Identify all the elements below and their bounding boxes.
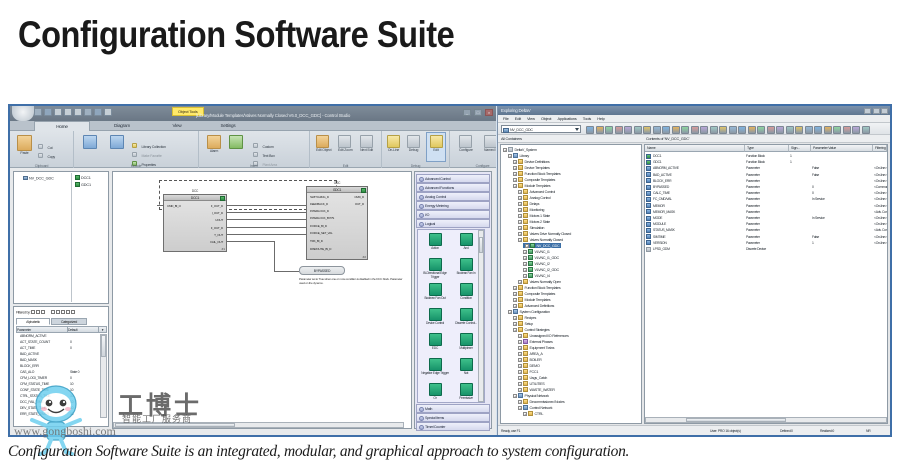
paste-icon[interactable] xyxy=(17,135,32,151)
menu-applications[interactable]: Applications xyxy=(557,116,576,121)
menu-file[interactable]: File xyxy=(503,116,509,121)
param-icon xyxy=(646,216,651,221)
palette-item-label: Negative Edge Trigger xyxy=(420,372,450,376)
palette-category[interactable]: Energy Metering xyxy=(416,201,490,210)
all-containers-label: All Containers xyxy=(501,135,522,143)
and-block-icon xyxy=(460,233,473,246)
nav-block-gdc1[interactable]: GDC1 xyxy=(75,182,91,187)
tree-item-label: Module Templates xyxy=(525,298,551,302)
debug-icon[interactable] xyxy=(407,135,420,148)
filter-checkbox[interactable] xyxy=(36,310,40,314)
copy-icon[interactable] xyxy=(38,153,43,158)
expand-toggle-icon[interactable]: + xyxy=(523,262,527,266)
tree-item[interactable]: +WASTE_WATER xyxy=(518,387,555,392)
explorer-list[interactable]: Name Type Sign... Parameter Value Filter… xyxy=(644,144,888,424)
filter-checkbox[interactable] xyxy=(51,310,55,314)
parameter-grid-pane: Filtered by: Alphabetic Categorized Para… xyxy=(13,306,109,427)
pin-interlock-d: INTERLOCK_D xyxy=(310,209,329,213)
toolbar-icon-20[interactable] xyxy=(776,126,784,134)
tree-item[interactable]: +Unassigned I/O References xyxy=(518,333,569,338)
expand-toggle-icon[interactable]: + xyxy=(523,412,527,416)
tab-view[interactable]: View xyxy=(154,121,200,131)
scrollbar-thumb[interactable] xyxy=(479,237,483,253)
tree-item[interactable]: +Control Network xyxy=(518,405,552,410)
palette-item[interactable]: Device Control xyxy=(420,308,450,326)
expand-toggle-icon[interactable]: + xyxy=(513,316,517,320)
menu-help[interactable]: Help xyxy=(597,116,604,121)
palette-category[interactable]: Timer/Counter xyxy=(416,422,490,431)
tree-item[interactable]: +Motors 2 State xyxy=(518,219,550,224)
function-block-gdc1-header: GDC1 xyxy=(307,187,367,193)
palette-item[interactable]: Or xyxy=(420,383,450,401)
tree-item[interactable]: +Usgs_Catch xyxy=(518,375,547,380)
expand-toggle-icon[interactable]: + xyxy=(518,226,522,230)
block-status-icon xyxy=(220,196,225,201)
tree-item-label: Simulation xyxy=(530,226,545,230)
tree-item[interactable]: +Module Templates xyxy=(513,183,550,188)
configure-icon[interactable] xyxy=(459,135,472,148)
expand-toggle-icon[interactable]: + xyxy=(518,358,522,362)
tree-item[interactable]: +VLVNC_I1_GDC xyxy=(523,255,559,260)
expand-toggle-icon[interactable]: + xyxy=(518,364,522,368)
assign-icon[interactable] xyxy=(110,135,124,149)
tab-home[interactable]: Home xyxy=(34,121,90,131)
parameter-default[interactable]: 10 xyxy=(70,394,73,398)
parameter-name[interactable]: CTRL_STATUS_TIME xyxy=(20,394,50,398)
minimize-button[interactable]: _ xyxy=(463,109,471,116)
tree-item-label: Recipes xyxy=(525,316,537,320)
tree-item[interactable]: +CTRL xyxy=(523,411,543,416)
pin-out-6: FAIL_OUT xyxy=(210,240,223,244)
tree-item[interactable]: +Simulation xyxy=(518,225,544,230)
tree-item[interactable]: +Monitoring xyxy=(518,207,544,212)
palette-category-label: Advanced Functions xyxy=(425,186,454,190)
parameter-name[interactable]: BAD_MASK xyxy=(20,358,37,362)
tree-item[interactable]: +Valves Drive Normally Closed xyxy=(518,231,571,236)
expand-toggle-icon[interactable]: + xyxy=(513,184,517,188)
next-icon[interactable] xyxy=(360,135,373,148)
tree-item[interactable]: +Recipes xyxy=(513,315,536,320)
palette-category[interactable]: Advanced Functions xyxy=(416,183,490,192)
tree-item[interactable]: +Device Definitions xyxy=(513,159,550,164)
toolbar-icon-6[interactable] xyxy=(643,126,651,134)
tree-item-label: Device Templates xyxy=(525,166,550,170)
phase-icon xyxy=(523,339,528,344)
multiplexer-icon xyxy=(460,333,473,346)
wire xyxy=(227,241,274,242)
expand-toggle-icon[interactable]: + xyxy=(518,370,522,374)
toolbar-icon-24[interactable] xyxy=(814,126,822,134)
filter-checkbox[interactable] xyxy=(56,310,60,314)
filter-checkbox[interactable] xyxy=(41,310,45,314)
expand-toggle-icon[interactable]: + xyxy=(523,268,527,272)
tree-item[interactable]: +Composite Templates xyxy=(513,291,555,296)
toolbar-icon-13[interactable] xyxy=(710,126,718,134)
toolbar-icon-26[interactable] xyxy=(833,126,841,134)
expand-toggle-icon[interactable]: + xyxy=(513,394,517,398)
expand-toggle-icon[interactable]: + xyxy=(513,172,517,176)
expand-toggle-icon[interactable]: + xyxy=(518,406,522,410)
grid-header-parameter[interactable]: Parameter xyxy=(16,326,68,333)
tree-item[interactable]: +Module Templates xyxy=(513,297,550,302)
ribbon-group-label-edit: Edit xyxy=(310,164,381,168)
module-icon xyxy=(528,249,533,254)
ribbon-tabstrip: Home Diagram View Settings xyxy=(10,121,496,131)
ribbon-group-label-configure: Configure xyxy=(450,164,496,168)
function-block-dcc1[interactable]: DCC DCC1 CMD_BI_O F_OUT_D I_OUT_D UOUT F… xyxy=(163,194,227,252)
param-icon xyxy=(646,172,651,177)
expand-toggle-icon[interactable]: + xyxy=(513,322,517,326)
palette-item[interactable]: Bi-Directional Edge Trigger xyxy=(420,258,450,279)
tree-item[interactable]: +VLVNC_I2_GDC xyxy=(523,267,559,272)
parameter-name[interactable]: DCC_FAIL_TIME xyxy=(20,400,44,404)
parameter-name[interactable]: DEV_STATE_TIME xyxy=(20,406,46,410)
pin-interlock-byps: INTERLOCK_BYPS xyxy=(310,216,334,220)
expand-toggle-icon[interactable]: + xyxy=(513,286,517,290)
palette-item[interactable]: And xyxy=(451,233,481,251)
palette-item[interactable]: Not xyxy=(451,358,481,376)
module-icon xyxy=(503,128,509,133)
ribbon: Paste Cut Copy Clipboard Library Collect… xyxy=(10,131,496,168)
pin-switching-d: SWITCHING_D xyxy=(310,195,329,199)
palette-item[interactable]: Multiplexer xyxy=(451,333,481,351)
tree-item[interactable]: +External Phases xyxy=(518,339,553,344)
watermark-tagline-cn: 智能工厂服务商 xyxy=(122,412,192,425)
expand-toggle-icon[interactable]: + xyxy=(503,148,507,152)
permissive-block-icon xyxy=(460,383,473,396)
tree-item[interactable]: +VLVNC_I2 xyxy=(523,261,550,266)
grid-header-more[interactable]: ▾ xyxy=(98,326,107,333)
tree-item[interactable]: +Delays xyxy=(518,201,539,206)
menu-view[interactable]: View xyxy=(527,116,535,121)
parameter-default[interactable]: 10 xyxy=(70,388,73,392)
parameter-name[interactable]: ABNORM_ACTIVE xyxy=(20,334,46,338)
toolbar-icon-8[interactable] xyxy=(662,126,670,134)
tree-item[interactable]: +DeltaV_System xyxy=(503,147,537,152)
tree-item[interactable]: +DEMO xyxy=(518,363,540,368)
palette-item-label: Or xyxy=(420,397,450,401)
alarm-icon[interactable] xyxy=(207,135,221,149)
expand-toggle-icon[interactable]: + xyxy=(518,280,522,284)
palette-item[interactable]: Discrete Control... xyxy=(451,308,481,326)
palette-category[interactable]: Math xyxy=(416,404,490,413)
list-hscrollbar[interactable] xyxy=(645,417,887,423)
zoom-icon[interactable] xyxy=(338,135,351,148)
nav-root-item[interactable]: NV_DCC_GDC xyxy=(23,176,54,181)
download-icon[interactable] xyxy=(83,135,97,149)
expand-toggle-icon[interactable]: + xyxy=(508,310,512,314)
tree-item[interactable]: +VLVNC_I1 xyxy=(523,249,550,254)
tab-alphabetic[interactable]: Alphabetic xyxy=(16,318,50,325)
maximize-button[interactable] xyxy=(873,108,880,114)
parameter-name[interactable]: CAS_ALO xyxy=(20,370,34,374)
explorer-toolbar: NV_DCC_GDC xyxy=(498,123,890,135)
toolbar-icon-0[interactable] xyxy=(586,126,594,134)
palette-category-logical[interactable]: Logical xyxy=(416,219,490,228)
expand-toggle-icon[interactable]: + xyxy=(523,256,527,260)
pin-force-set-val: FORCE_SET_VAL xyxy=(310,231,333,235)
tree-item[interactable]: +Decommissioned Nodes xyxy=(518,399,564,404)
wire xyxy=(274,241,275,271)
explorer-menubar: File Edit View Object Applications Tools… xyxy=(498,115,890,123)
toolbar-icon-15[interactable] xyxy=(729,126,737,134)
palette-item-label: Discrete Control... xyxy=(451,322,481,326)
filter-checkbox[interactable] xyxy=(66,310,70,314)
palette-item[interactable]: Boolean Fan In xyxy=(451,258,481,276)
tab-categorized[interactable]: Categorized xyxy=(51,318,87,325)
tree-item[interactable]: +Valves Normally Open xyxy=(518,279,561,284)
toolbar-icon-11[interactable] xyxy=(691,126,699,134)
palette-category-label: Math xyxy=(425,407,432,411)
function-block-dcc1-header: DCC1 xyxy=(164,195,226,201)
expand-toggle-icon[interactable]: + xyxy=(518,376,522,380)
expand-toggle-icon[interactable]: + xyxy=(518,340,522,344)
parameter-name[interactable]: BAD_ACTIVE xyxy=(20,352,39,356)
palette-item[interactable]: Action xyxy=(420,233,450,251)
parameter-default[interactable]: 0 xyxy=(70,340,72,344)
grid-header-default[interactable]: Default xyxy=(67,326,99,333)
parameter-name[interactable]: CFM_STATUS_TIME xyxy=(20,382,49,386)
parameter-default[interactable]: 10 xyxy=(70,382,73,386)
expand-toggle-icon[interactable]: + xyxy=(518,382,522,386)
parameter-default[interactable]: State 0 xyxy=(70,370,79,374)
action-block-icon xyxy=(429,233,442,246)
tree-item[interactable]: +Analog Control xyxy=(518,195,550,200)
tree-item[interactable]: +NV_DCC_GDC xyxy=(523,243,561,248)
tree-item[interactable]: +Function Block Templates xyxy=(513,171,560,176)
menu-object[interactable]: Object xyxy=(541,116,551,121)
online-icon[interactable] xyxy=(387,135,400,148)
toolbar-icon-28[interactable] xyxy=(852,126,860,134)
expand-toggle-icon[interactable]: + xyxy=(513,304,517,308)
expand-toggle-icon[interactable]: + xyxy=(518,202,522,206)
tree-item[interactable]: +Library xyxy=(508,153,529,158)
parameter-default[interactable]: 10 xyxy=(70,400,73,404)
list-header-value[interactable]: Parameter Value xyxy=(811,145,873,152)
parameter-default[interactable]: 10 xyxy=(70,412,73,416)
toolbar-icon-10[interactable] xyxy=(681,126,689,134)
toolbar-icon-22[interactable] xyxy=(795,126,803,134)
expand-toggle-icon[interactable]: + xyxy=(523,274,527,278)
tree-item-label: Monitoring xyxy=(530,208,545,212)
list-header-filtering[interactable]: Filtering xyxy=(873,145,887,152)
scrollbar-thumb[interactable] xyxy=(101,335,106,357)
tree-item[interactable]: +UTILITIES xyxy=(518,381,544,386)
tree-item-label: Delays xyxy=(530,202,540,206)
ribbon-label-next-edit: Next Edit xyxy=(360,148,373,152)
parameter-default[interactable]: 10 xyxy=(70,406,73,410)
palette-item-label: Not xyxy=(451,372,481,376)
expand-toggle-icon[interactable]: + xyxy=(518,388,522,392)
param-icon xyxy=(646,234,651,239)
tree-item[interactable]: +Valves Normally Closed xyxy=(518,237,563,242)
parameter-name[interactable]: BLOCK_ERR xyxy=(20,364,39,368)
palette-category[interactable]: Advanced Control xyxy=(416,174,490,183)
palette-category[interactable]: Analog Control xyxy=(416,192,490,201)
expand-toggle-icon[interactable]: + xyxy=(518,214,522,218)
toolbar-icon-17[interactable] xyxy=(748,126,756,134)
tree-item-label: Module Templates xyxy=(525,184,551,188)
parameter-name[interactable]: ACT_TIME xyxy=(20,346,35,350)
chevron-down-icon[interactable] xyxy=(575,128,579,131)
maximize-button[interactable]: □ xyxy=(474,109,482,116)
nav-block-dcc1-label: DCC1 xyxy=(81,176,91,180)
menu-edit[interactable]: Edit xyxy=(515,116,521,121)
toolbar-icon-9[interactable] xyxy=(672,126,680,134)
expand-toggle-icon[interactable]: + xyxy=(518,352,522,356)
parameter-name[interactable]: ERR_STATE_TIMER xyxy=(20,412,49,416)
table-cell: Discrete Device xyxy=(746,246,766,252)
tree-item[interactable]: +VLVNC_I4 xyxy=(523,273,550,278)
expand-toggle-icon[interactable]: + xyxy=(508,154,512,158)
tree-item-label: UTILITIES xyxy=(530,382,545,386)
toolbar-icon-18[interactable] xyxy=(757,126,765,134)
filter-checkbox[interactable] xyxy=(71,310,75,314)
named-set-icon[interactable] xyxy=(484,135,496,148)
toolbar-icon-5[interactable] xyxy=(634,126,642,134)
tree-item[interactable]: +AREA_A xyxy=(518,351,543,356)
tree-item[interactable]: +Composite Templates xyxy=(513,177,555,182)
pin-disroute-bi-d: DISROUTE_BI_D xyxy=(310,247,331,251)
tree-item-label: Motors 1 State xyxy=(530,214,550,218)
palette-item[interactable]: Condition xyxy=(451,283,481,301)
pin-out-1: F_OUT_D xyxy=(211,204,223,208)
folder-icon xyxy=(518,285,523,290)
palette-category[interactable]: I/O xyxy=(416,210,490,219)
tree-item-label: NV_DCC_GDC xyxy=(537,244,560,248)
tree-item-label: Usgs_Catch xyxy=(530,376,548,380)
toolbar-icon-21[interactable] xyxy=(786,126,794,134)
parameter-icon[interactable] xyxy=(229,135,243,149)
edit-object-icon[interactable] xyxy=(316,135,329,148)
toolbar-icon-16[interactable] xyxy=(738,126,746,134)
tree-item[interactable]: +System Configuration xyxy=(508,309,550,314)
list-header-sign[interactable]: Sign... xyxy=(789,145,811,152)
parameter-name[interactable]: CFM_LOGI_TIMER xyxy=(20,376,47,380)
chevron-right-icon xyxy=(419,204,424,209)
toolbar-icon-19[interactable] xyxy=(767,126,775,134)
ribbon-button-edit-mode[interactable]: Edit xyxy=(427,133,445,161)
module-icon xyxy=(528,255,533,260)
expand-toggle-icon[interactable]: + xyxy=(518,196,522,200)
expand-toggle-icon[interactable]: + xyxy=(513,292,517,296)
tree-item[interactable]: +Function Block Templates xyxy=(513,285,560,290)
toolbar-icon-12[interactable] xyxy=(700,126,708,134)
function-block-gdc1[interactable]: GDC GDC1 SWITCHING_D FEEDBACK_D INTERLOC… xyxy=(306,186,368,260)
negative-edge-trigger-icon xyxy=(429,358,442,371)
tree-item[interactable]: +Advanced Definitions xyxy=(513,303,554,308)
param-grid-scrollbar[interactable] xyxy=(100,334,107,418)
function-block-icon xyxy=(75,175,80,180)
toolbar-icon-3[interactable] xyxy=(615,126,623,134)
toolbar-icon-7[interactable] xyxy=(653,126,661,134)
tab-diagram[interactable]: Diagram xyxy=(94,121,150,131)
tree-item[interactable]: +Equipment Trains xyxy=(518,345,554,350)
expand-toggle-icon[interactable]: + xyxy=(513,328,517,332)
minimize-button[interactable] xyxy=(864,108,871,114)
tree-item[interactable]: +Setup xyxy=(513,321,533,326)
expand-toggle-icon[interactable]: + xyxy=(518,220,522,224)
folder-icon xyxy=(523,279,528,284)
folder-icon xyxy=(523,237,528,242)
palette-category[interactable]: Special Items xyxy=(416,413,490,422)
expand-toggle-icon[interactable]: + xyxy=(518,190,522,194)
tab-settings[interactable]: Settings xyxy=(202,121,254,131)
pane-splitter[interactable] xyxy=(71,173,73,302)
filter-checkbox[interactable] xyxy=(61,310,65,314)
toolbar-icon-4[interactable] xyxy=(624,126,632,134)
param-icon xyxy=(646,178,651,183)
expand-toggle-icon[interactable]: + xyxy=(518,334,522,338)
toolbar-icon-2[interactable] xyxy=(605,126,613,134)
parameter-default[interactable]: 0 xyxy=(70,376,72,380)
toolbar-icon-27[interactable] xyxy=(843,126,851,134)
tree-item[interactable]: +Advanced Control xyxy=(518,189,555,194)
nav-block-dcc1[interactable]: DCC1 xyxy=(75,175,91,180)
expand-toggle-icon[interactable]: + xyxy=(513,178,517,182)
tree-item[interactable]: +Control Strategies xyxy=(513,327,550,332)
expand-toggle-icon[interactable]: + xyxy=(513,166,517,170)
annotation-bypassed[interactable]: BYPASSED xyxy=(299,266,345,275)
palette-item[interactable]: Permissive xyxy=(451,383,481,401)
toolbar-icon-1[interactable] xyxy=(596,126,604,134)
expand-toggle-icon[interactable]: + xyxy=(518,346,522,350)
scrollbar-thumb[interactable] xyxy=(686,418,786,422)
expand-toggle-icon[interactable]: + xyxy=(518,232,522,236)
toolbar-icon-29[interactable] xyxy=(862,126,870,134)
menu-tools[interactable]: Tools xyxy=(583,116,591,121)
filter-checkbox[interactable] xyxy=(31,310,35,314)
tree-item[interactable]: +FCC1 xyxy=(518,369,538,374)
parameter-name[interactable]: CONF_STATE_TIME xyxy=(20,388,49,392)
tree-item[interactable]: +Device Templates xyxy=(513,165,550,170)
wire xyxy=(227,205,306,206)
expand-toggle-icon[interactable]: + xyxy=(525,244,529,248)
tree-item[interactable]: +BOILER xyxy=(518,357,542,362)
folder-icon xyxy=(523,225,528,230)
tree-item-label: Valves Drive Normally Closed xyxy=(530,232,572,236)
ribbon-label-copy: Copy xyxy=(47,155,55,159)
palette-scrollbar[interactable] xyxy=(478,230,484,402)
expand-toggle-icon[interactable]: + xyxy=(523,250,527,254)
wire xyxy=(157,205,163,206)
expand-toggle-icon[interactable]: + xyxy=(518,238,522,242)
close-button[interactable] xyxy=(881,108,888,114)
tree-item[interactable]: +Physical Network xyxy=(513,393,549,398)
palette-item[interactable]: Boolean Fan Out xyxy=(420,283,450,301)
tree-item-label: Function Block Templates xyxy=(525,286,561,290)
toolbar-icon-25[interactable] xyxy=(824,126,832,134)
expand-toggle-icon[interactable]: + xyxy=(518,208,522,212)
expand-toggle-icon[interactable]: + xyxy=(518,400,522,404)
toolbar-icon-14[interactable] xyxy=(719,126,727,134)
palette-item[interactable]: Negative Edge Trigger xyxy=(420,358,450,376)
expand-toggle-icon[interactable]: + xyxy=(513,298,517,302)
address-combo[interactable]: NV_DCC_GDC xyxy=(501,125,581,133)
table-row[interactable]: LPSD_GDMDiscrete Device xyxy=(645,246,887,252)
tree-item[interactable]: +Motors 1 State xyxy=(518,213,550,218)
parameter-default[interactable]: 0 xyxy=(70,346,72,350)
list-header-type[interactable]: Type xyxy=(745,145,789,152)
palette-item[interactable]: EDC xyxy=(420,333,450,351)
explorer-tree[interactable]: +DeltaV_System+Library+Device Definition… xyxy=(500,144,642,424)
parameter-name[interactable]: ACT_STATE_COUNT xyxy=(20,340,50,344)
toolbar-icon-23[interactable] xyxy=(805,126,813,134)
pin-out-4: F_OUT_D xyxy=(211,226,223,230)
expand-toggle-icon[interactable]: + xyxy=(513,160,517,164)
list-header-name[interactable]: Name xyxy=(645,145,745,152)
close-button[interactable]: × xyxy=(485,109,493,116)
